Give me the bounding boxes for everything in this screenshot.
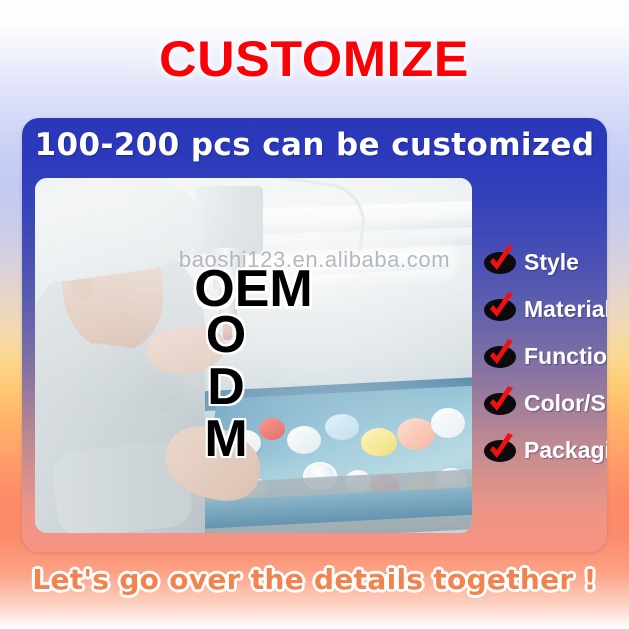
checklist-item-label: Packaging — [524, 437, 607, 464]
checklist-item-material[interactable]: Material — [484, 286, 604, 333]
check-icon — [484, 297, 518, 322]
customization-checklist: Style Material Function — [484, 239, 604, 474]
checklist-item-label: Color/Size — [524, 390, 607, 417]
banner-footer-row: Let's go over the details together ! — [0, 563, 629, 597]
checklist-item-label: Material — [524, 296, 607, 323]
checklist-item-packaging[interactable]: Packaging — [484, 427, 604, 474]
footer-text: Let's go over the details together ! — [32, 563, 596, 597]
check-icon — [484, 250, 518, 275]
check-icon — [484, 344, 518, 369]
checklist-item-color-size[interactable]: Color/Size — [484, 380, 604, 427]
banner-title-row: CUSTOMIZE — [0, 31, 629, 87]
checklist-item-function[interactable]: Function — [484, 333, 604, 380]
customize-promo-banner: CUSTOMIZE 100-200 pcs can be customized — [0, 0, 629, 629]
check-icon — [484, 438, 518, 463]
page-title: CUSTOMIZE — [160, 31, 470, 87]
check-icon — [484, 391, 518, 416]
checklist-item-label: Style — [524, 249, 579, 276]
panel-heading: 100-200 pcs can be customized — [22, 126, 607, 164]
odm-overlay-text: ODM — [197, 306, 255, 462]
customization-panel: 100-200 pcs can be customized — [22, 118, 607, 552]
checklist-item-style[interactable]: Style — [484, 239, 604, 286]
checklist-item-label: Function — [524, 343, 607, 370]
